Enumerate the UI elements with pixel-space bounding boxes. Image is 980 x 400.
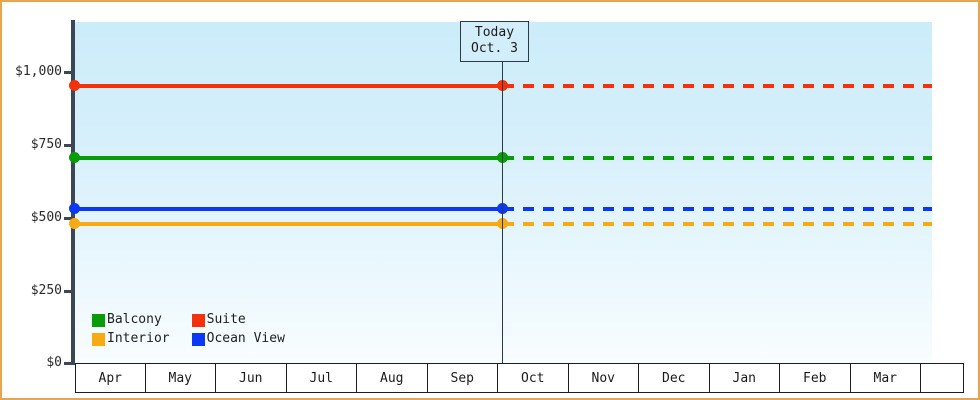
x-axis-month-apr[interactable]: Apr: [75, 364, 146, 392]
x-axis-month-feb[interactable]: Feb: [780, 364, 851, 392]
series-line-suite-forecast: [503, 84, 932, 88]
x-axis-month-jul[interactable]: Jul: [287, 364, 358, 392]
y-tick-label-0: $0: [46, 356, 62, 369]
series-dot-balcony-start: [69, 152, 80, 163]
x-axis-month-jan[interactable]: Jan: [710, 364, 781, 392]
x-axis-month-may[interactable]: May: [146, 364, 217, 392]
y-tick-mark-1000: [64, 71, 72, 74]
series-dot-ocean-view-start: [69, 203, 80, 214]
series-line-ocean-view-forecast: [503, 207, 932, 211]
x-axis-month-overflow: [921, 364, 964, 392]
series-line-balcony-forecast: [503, 156, 932, 160]
price-trend-chart: $1,000 $750 $500 $250 $0 Today Oct. 3: [0, 0, 980, 400]
legend: Balcony Suite Interior Ocean View: [92, 312, 285, 347]
y-tick-mark-750: [64, 144, 72, 147]
x-axis-month-sep[interactable]: Sep: [428, 364, 499, 392]
y-tick-label-250: $250: [31, 284, 62, 297]
series-line-suite-actual: [75, 84, 503, 88]
x-axis-month-aug[interactable]: Aug: [357, 364, 428, 392]
y-tick-label-1000: $1,000: [15, 65, 62, 78]
series-line-balcony-actual: [75, 156, 503, 160]
legend-item-ocean-view[interactable]: Ocean View: [192, 331, 285, 347]
today-label-line2: Oct. 3: [471, 41, 518, 57]
legend-item-suite[interactable]: Suite: [192, 312, 285, 328]
x-axis-month-oct[interactable]: Oct: [498, 364, 569, 392]
y-tick-mark-250: [64, 290, 72, 293]
legend-label-suite: Suite: [207, 312, 246, 328]
x-axis-month-dec[interactable]: Dec: [639, 364, 710, 392]
legend-swatch-interior: [92, 333, 105, 346]
legend-swatch-suite: [192, 314, 205, 327]
series-line-ocean-view-actual: [75, 207, 503, 211]
x-axis-month-nov[interactable]: Nov: [569, 364, 640, 392]
legend-swatch-balcony: [92, 314, 105, 327]
y-tick-label-500: $500: [31, 211, 62, 224]
today-label-line1: Today: [471, 25, 518, 41]
today-marker-line: [502, 22, 503, 363]
legend-swatch-ocean-view: [192, 333, 205, 346]
y-tick-label-750: $750: [31, 138, 62, 151]
legend-item-interior[interactable]: Interior: [92, 331, 170, 347]
series-dot-suite-start: [69, 80, 80, 91]
x-axis-month-jun[interactable]: Jun: [216, 364, 287, 392]
legend-item-balcony[interactable]: Balcony: [92, 312, 170, 328]
series-line-interior-forecast: [503, 222, 932, 226]
series-dot-interior-start: [69, 218, 80, 229]
legend-label-interior: Interior: [107, 331, 170, 347]
x-axis-months: Apr May Jun Jul Aug Sep Oct Nov Dec Jan …: [75, 363, 964, 393]
legend-label-ocean-view: Ocean View: [207, 331, 285, 347]
x-axis-month-mar[interactable]: Mar: [851, 364, 922, 392]
legend-label-balcony: Balcony: [107, 312, 162, 328]
y-tick-mark-0: [64, 362, 72, 365]
today-marker-label: Today Oct. 3: [460, 21, 529, 62]
series-line-interior-actual: [75, 222, 503, 226]
